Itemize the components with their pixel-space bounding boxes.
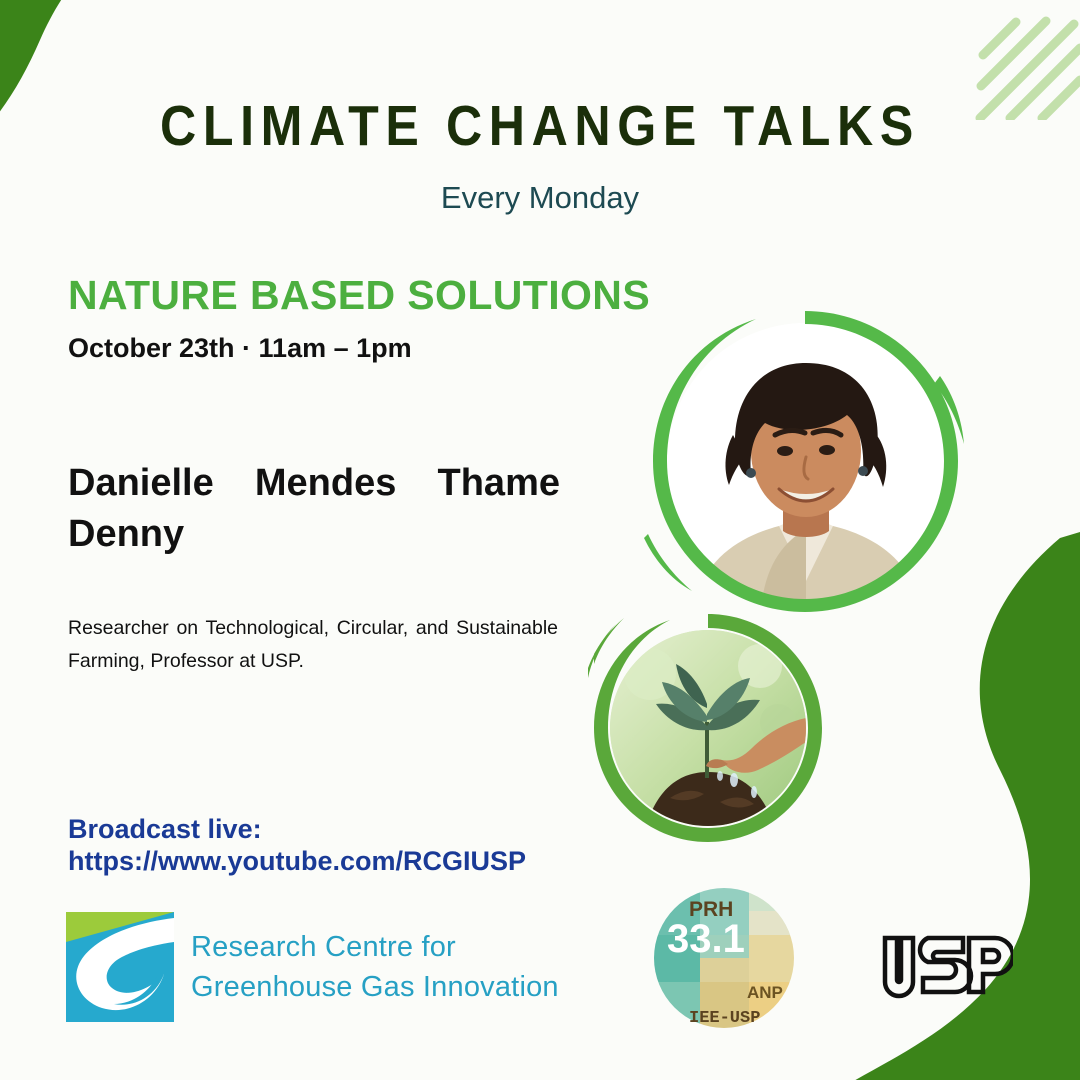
rcgi-logo: Research Centre for Greenhouse Gas Innov…: [66, 912, 559, 1022]
rcgi-logo-line2: Greenhouse Gas Innovation: [191, 967, 559, 1007]
rcgi-logo-text: Research Centre for Greenhouse Gas Innov…: [191, 927, 559, 1007]
talk-topic: NATURE BASED SOLUTIONS: [68, 272, 650, 319]
rcgi-leaf-icon: [66, 912, 174, 1022]
speaker-name: Danielle Mendes Thame Denny: [68, 458, 560, 560]
poster-canvas: CLIMATE CHANGE TALKS Every Monday NATURE…: [0, 0, 1080, 1080]
speaker-portrait: [640, 298, 970, 628]
prh-number: 33.1: [667, 917, 745, 961]
green-brush-ring-portrait: [640, 298, 970, 628]
poster-title: CLIMATE CHANGE TALKS: [65, 96, 1015, 156]
seedling-image: [588, 608, 828, 848]
prh-bottom-label: IEE-USP: [689, 1009, 760, 1028]
usp-logo: [879, 930, 1013, 1002]
prh-badge-logo: PRH 33.1 ANP IEE-USP: [651, 888, 797, 1028]
green-ring-seedling: [588, 608, 828, 848]
prh-right-label: ANP: [747, 983, 783, 1002]
poster-subtitle: Every Monday: [0, 180, 1080, 216]
broadcast-label: Broadcast live:: [68, 813, 526, 845]
broadcast-url[interactable]: https://www.youtube.com/RCGIUSP: [68, 845, 526, 877]
speaker-bio: Researcher on Technological, Circular, a…: [68, 612, 558, 678]
broadcast-block: Broadcast live: https://www.youtube.com/…: [68, 813, 526, 877]
talk-datetime: October 23th · 11am – 1pm: [68, 333, 412, 364]
rcgi-logo-line1: Research Centre for: [191, 927, 559, 967]
